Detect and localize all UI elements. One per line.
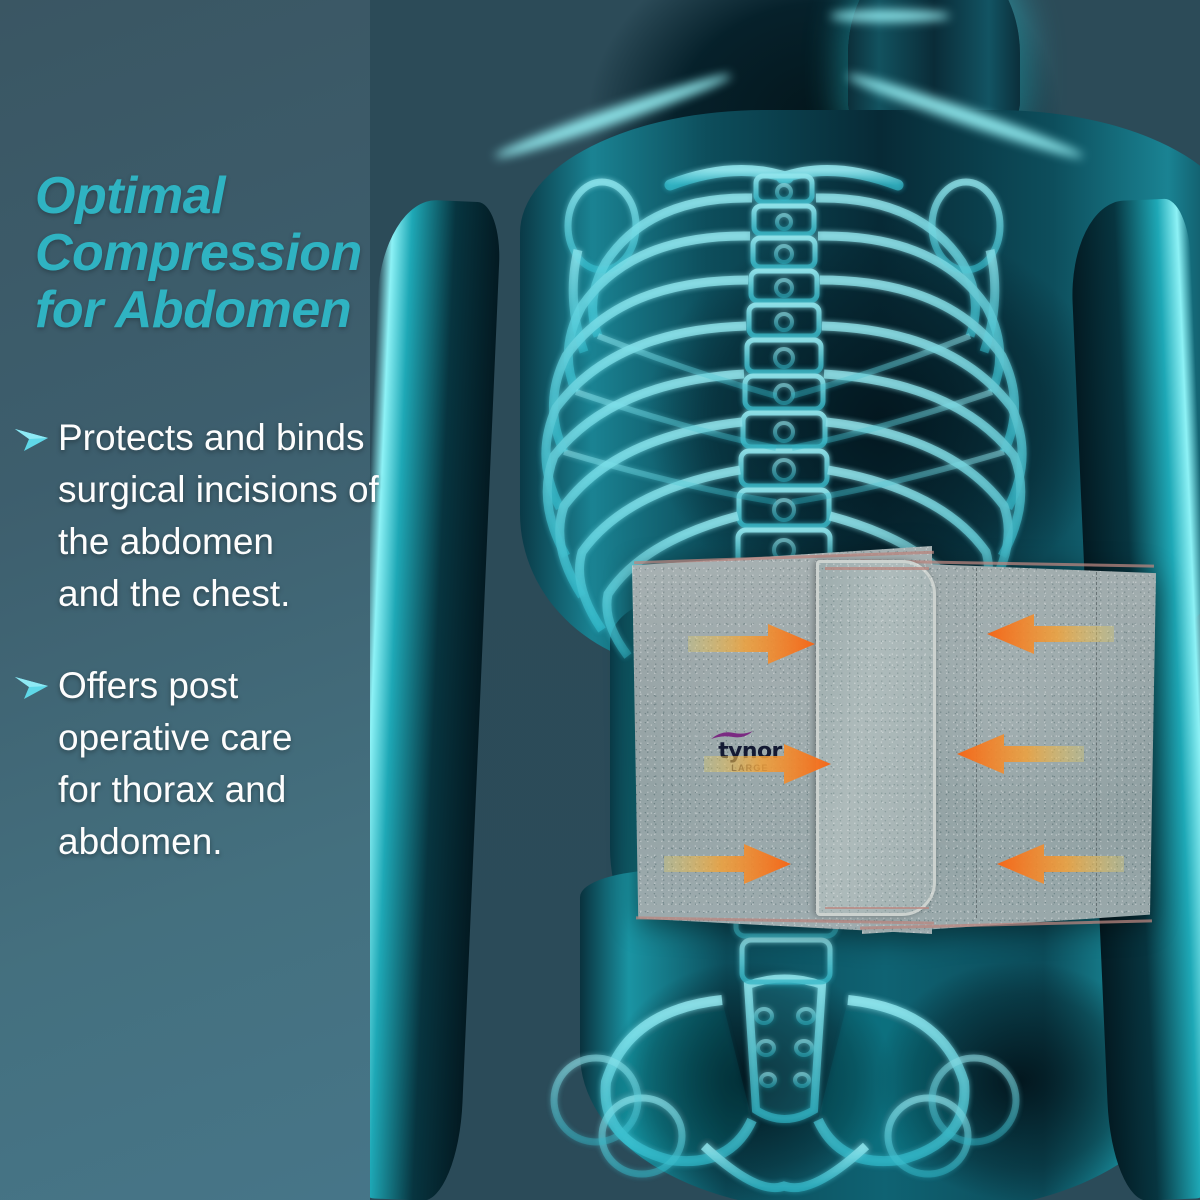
- flap-piping: [825, 907, 929, 910]
- flap-piping: [825, 567, 929, 570]
- list-item: Protects and binds surgical incisions of…: [14, 412, 446, 620]
- compression-arrow-left-2: [956, 732, 1084, 776]
- page-headline: Optimal Compression for Abdomen: [35, 168, 435, 339]
- headline-line-3: for Abdomen: [35, 282, 435, 339]
- feature-bullet-list: Protects and binds surgical incisions of…: [14, 412, 446, 908]
- flap-texture: [819, 563, 933, 913]
- bullet-1-line-2: surgical incisions of: [58, 464, 379, 516]
- abdominal-support-belt: tynor LARGE: [626, 546, 1162, 934]
- bullet-2-line-1: Offers post: [58, 660, 292, 712]
- bullet-text: Offers post operative care for thorax an…: [58, 660, 292, 868]
- chevron-arrow-marker-icon: [14, 412, 58, 452]
- compression-arrow-right-2: [704, 742, 832, 786]
- compression-arrow-left-1: [986, 612, 1114, 656]
- headline-line-1: Optimal: [35, 168, 435, 225]
- list-item: Offers post operative care for thorax an…: [14, 660, 446, 868]
- bullet-2-line-3: for thorax and: [58, 764, 292, 816]
- compression-arrow-right-1: [688, 622, 816, 666]
- product-marketing-image: tynor LARGE: [0, 0, 1200, 1200]
- bullet-1-line-3: the abdomen: [58, 516, 379, 568]
- bullet-2-line-4: abdomen.: [58, 816, 292, 868]
- bullet-1-line-1: Protects and binds: [58, 412, 379, 464]
- bullet-1-line-4: and the chest.: [58, 568, 379, 620]
- velcro-closure-flap: [816, 560, 936, 916]
- bullet-text: Protects and binds surgical incisions of…: [58, 412, 379, 620]
- bullet-2-line-2: operative care: [58, 712, 292, 764]
- compression-arrow-right-3: [664, 842, 792, 886]
- headline-line-2: Compression: [35, 225, 435, 282]
- xray-illustration: tynor LARGE: [370, 0, 1200, 1200]
- chevron-arrow-marker-icon: [14, 660, 58, 700]
- compression-arrow-left-3: [996, 842, 1124, 886]
